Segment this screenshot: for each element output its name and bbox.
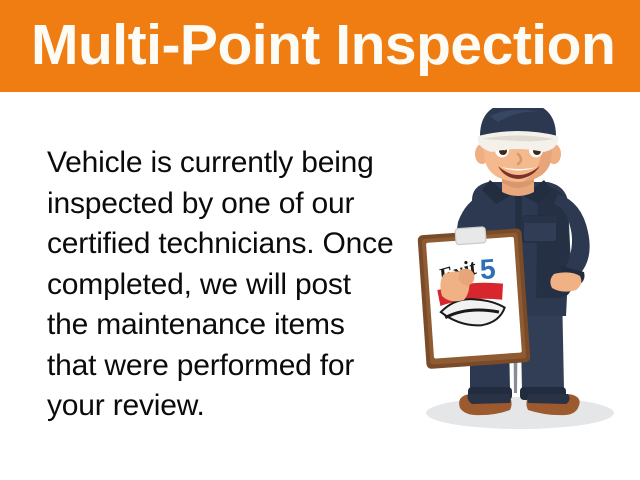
clipboard-clip [455,227,486,245]
floor-shadow-ellipse [426,397,614,429]
right-shoe-upper [527,394,569,404]
header-banner: Multi-Point Inspection [0,0,640,92]
cap-brim [478,131,558,152]
left-shoe-upper [468,394,511,404]
slide-canvas: Multi-Point Inspection Vehicle is curren… [0,0,640,480]
page-title: Multi-Point Inspection [31,9,615,81]
body-paragraph: Vehicle is currently being inspected by … [47,143,399,427]
clipboard: Exit 5 [417,224,530,369]
chest-pocket-flap [523,216,557,223]
logo-number-text: 5 [479,253,497,285]
mechanic-illustration: Exit 5 [398,108,640,448]
right-hand [550,272,581,291]
